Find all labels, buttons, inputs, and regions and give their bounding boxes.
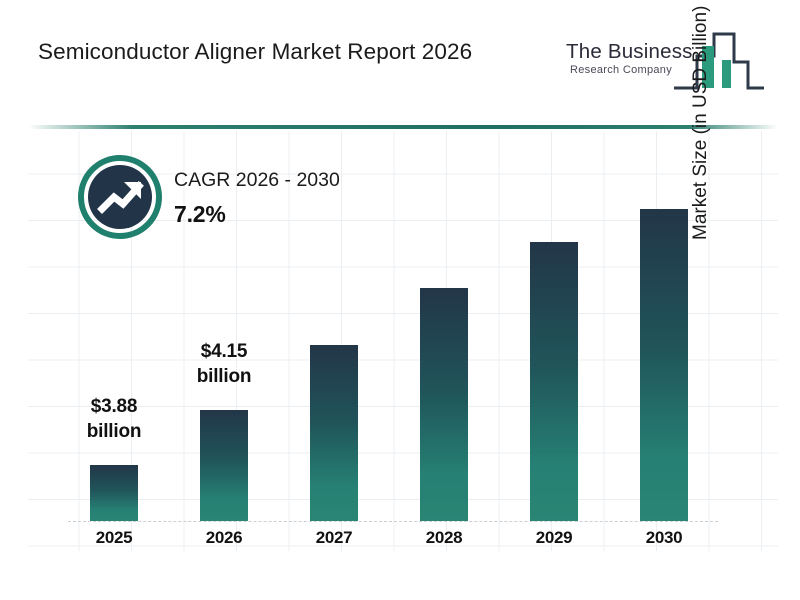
logo-sub-text: Research Company bbox=[570, 64, 672, 76]
value-label-line2: billion bbox=[169, 364, 279, 389]
bar-2028[interactable] bbox=[420, 288, 468, 521]
xtick-2028: 2028 bbox=[389, 528, 499, 548]
axis-baseline bbox=[68, 521, 718, 522]
xtick-2029: 2029 bbox=[499, 528, 609, 548]
bar-fill bbox=[200, 410, 248, 521]
value-label-line2: billion bbox=[59, 419, 169, 444]
bar-2027[interactable] bbox=[310, 345, 358, 521]
bar-2026[interactable] bbox=[200, 410, 248, 521]
bar-fill bbox=[640, 209, 688, 521]
cagr-badge: CAGR 2026 - 2030 7.2% bbox=[78, 155, 378, 241]
value-label-2025: $3.88 billion bbox=[59, 394, 169, 444]
cagr-period-label: CAGR 2026 - 2030 bbox=[174, 169, 340, 192]
page-title: Semiconductor Aligner Market Report 2026 bbox=[38, 36, 538, 68]
y-axis-title: Market Size (in USD Billion) bbox=[690, 0, 712, 240]
header-divider bbox=[28, 125, 778, 129]
chart-page: Semiconductor Aligner Market Report 2026… bbox=[0, 0, 800, 600]
bar-fill bbox=[530, 242, 578, 521]
bar-2025[interactable] bbox=[90, 465, 138, 521]
xtick-2025: 2025 bbox=[59, 528, 169, 548]
bar-fill bbox=[420, 288, 468, 521]
xtick-2030: 2030 bbox=[609, 528, 719, 548]
company-logo: The Business Research Company bbox=[566, 30, 766, 98]
xtick-2027: 2027 bbox=[279, 528, 389, 548]
bar-2030[interactable] bbox=[640, 209, 688, 521]
bar-fill bbox=[90, 465, 138, 521]
xtick-2026: 2026 bbox=[169, 528, 279, 548]
trending-up-icon bbox=[78, 155, 162, 239]
bar-2029[interactable] bbox=[530, 242, 578, 521]
value-label-line1: $4.15 bbox=[169, 339, 279, 364]
header: Semiconductor Aligner Market Report 2026… bbox=[0, 0, 800, 124]
bar-chart-logo-mark-icon bbox=[672, 28, 766, 94]
value-label-line1: $3.88 bbox=[59, 394, 169, 419]
bar-fill bbox=[310, 345, 358, 521]
cagr-value: 7.2% bbox=[174, 201, 226, 228]
value-label-2026: $4.15 billion bbox=[169, 339, 279, 389]
x-axis: 2025 2026 2027 2028 2029 2030 bbox=[28, 528, 778, 560]
